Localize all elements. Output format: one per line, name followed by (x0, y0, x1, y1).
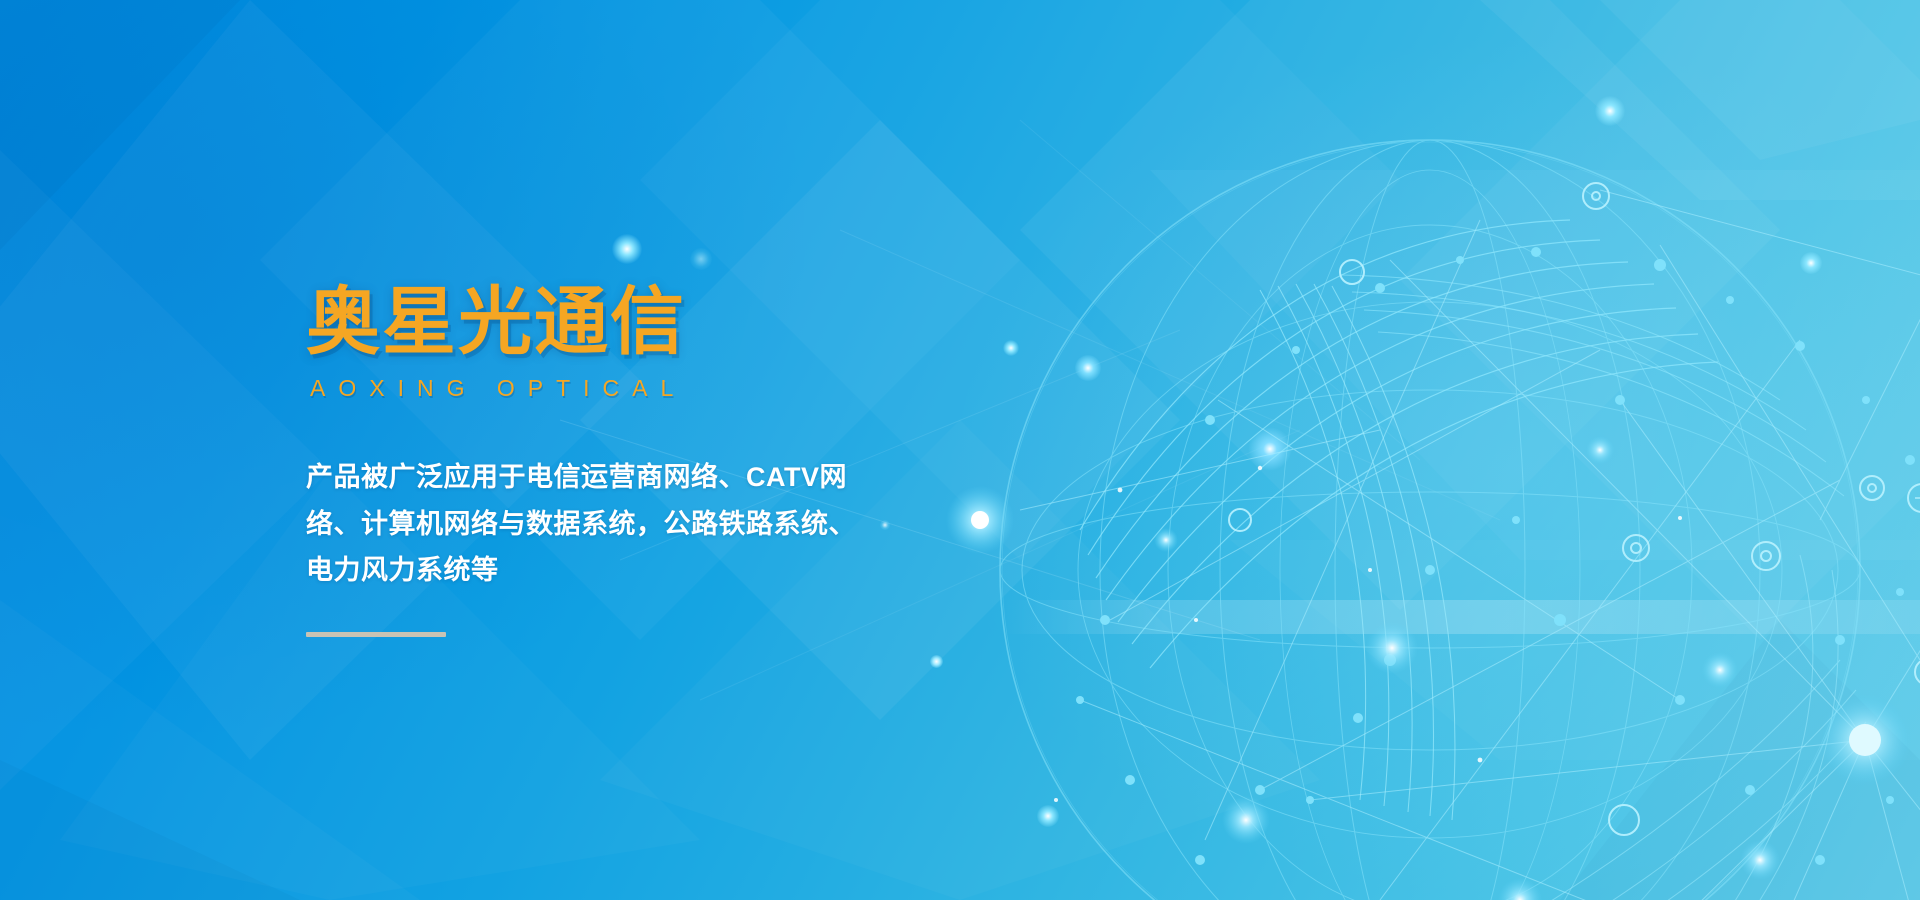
hero-description-line: 电力风力系统等 (306, 555, 499, 585)
hero-description-line: 络、计算机网络与数据系统，公路铁路系统、 (306, 509, 856, 539)
hero-content: 奥星光通信 AOXING OPTICAL 产品被广泛应用于电信运营商网络、CAT… (306, 284, 986, 637)
hero-description-line: 产品被广泛应用于电信运营商网络、CATV网 (306, 462, 847, 492)
hero-banner: 奥星光通信 AOXING OPTICAL 产品被广泛应用于电信运营商网络、CAT… (0, 0, 1920, 900)
accent-rule (306, 632, 446, 637)
hero-description: 产品被广泛应用于电信运营商网络、CATV网 络、计算机网络与数据系统，公路铁路系… (306, 454, 946, 593)
brand-title-cn: 奥星光通信 (306, 284, 986, 359)
brand-subtitle-en: AOXING OPTICAL (310, 375, 986, 402)
